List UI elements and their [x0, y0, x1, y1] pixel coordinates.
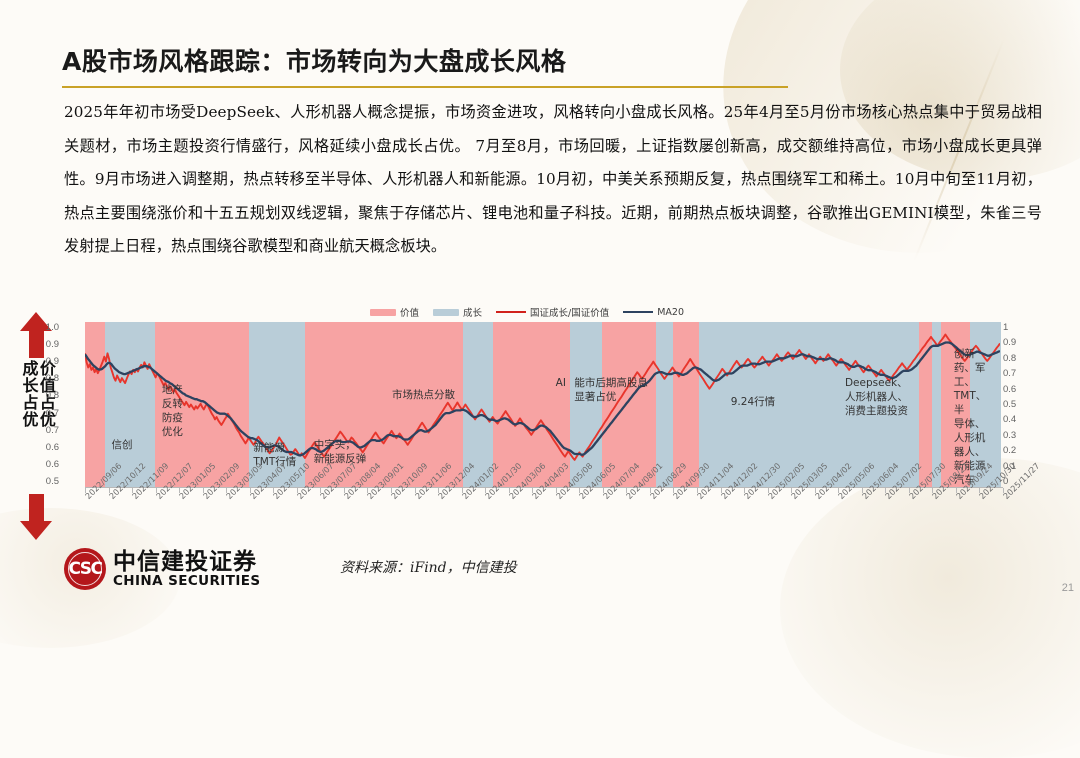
- slide-footer: CSC 中信建投证券 CHINA SECURITIES 资料来源：iFind，中…: [60, 544, 1070, 600]
- chart-annotation-8: Deepseek、 人形机器人、 消费主题投资: [845, 376, 908, 418]
- logo-mark-icon: CSC: [64, 548, 106, 590]
- y-left-tick-9: 0.5: [46, 476, 59, 487]
- value-arrow-down-icon: [20, 494, 52, 540]
- y-left-tick-7: 0.6: [46, 442, 59, 453]
- y-axis-left-ticks: 1.00.90.90.80.80.70.70.60.60.5: [35, 322, 59, 487]
- y-right-tick-1: 0.9: [1003, 337, 1016, 348]
- y-right-tick-6: 0.4: [1003, 414, 1016, 425]
- y-left-tick-6: 0.7: [46, 425, 59, 436]
- y-left-tick-5: 0.7: [46, 408, 59, 419]
- y-left-tick-8: 0.6: [46, 459, 59, 470]
- legend-label-3: MA20: [657, 307, 684, 318]
- chart-annotation-7: 9.24行情: [731, 395, 775, 409]
- y-right-tick-5: 0.5: [1003, 399, 1016, 410]
- legend-item-2[interactable]: 国证成长/国证价值: [496, 305, 609, 319]
- legend-item-3[interactable]: MA20: [623, 307, 684, 318]
- y-right-tick-3: 0.7: [1003, 368, 1016, 379]
- logo-mark-text: CSC: [68, 559, 101, 579]
- chart-annotation-4: 市场热点分散: [392, 388, 455, 402]
- y-left-tick-1: 0.9: [46, 339, 59, 350]
- body-paragraph: 2025年年初市场受DeepSeek、人形机器人概念提振，市场资金进攻，风格转向…: [64, 96, 1042, 264]
- style-tracking-chart: 价值成长国证成长/国证价值MA20 1.00.90.90.80.80.70.70…: [60, 300, 1070, 550]
- chart-annotation-5: AI: [556, 376, 566, 390]
- legend-swatch-2: [496, 311, 526, 314]
- y-left-tick-0: 1.0: [46, 322, 59, 333]
- legend-label-2: 国证成长/国证价值: [530, 305, 609, 319]
- legend-swatch-1: [433, 309, 459, 316]
- chart-annotation-0: 信创: [112, 438, 133, 452]
- y-right-tick-0: 1: [1003, 322, 1008, 333]
- legend-item-1[interactable]: 成长: [433, 305, 482, 319]
- page-number: 21: [1062, 582, 1074, 594]
- page-title-text: A股市场风格跟踪：市场转向为大盘成长风格: [62, 42, 1040, 78]
- legend-label-1: 成长: [463, 305, 482, 319]
- page-title: A股市场风格跟踪：市场转向为大盘成长风格: [62, 42, 1040, 82]
- x-axis-labels: 2022/09/062022/10/122022/11/092022/12/07…: [85, 494, 1045, 548]
- logo-name-cn: 中信建投证券: [113, 550, 260, 574]
- chart-legend: 价值成长国证成长/国证价值MA20: [370, 304, 770, 320]
- y-right-tick-2: 0.8: [1003, 353, 1016, 364]
- company-logo: CSC 中信建投证券 CHINA SECURITIES: [64, 548, 260, 590]
- logo-name-en: CHINA SECURITIES: [113, 574, 260, 589]
- legend-swatch-0: [370, 309, 396, 316]
- y-right-tick-4: 0.6: [1003, 384, 1016, 395]
- title-underline: [62, 86, 788, 88]
- legend-item-0[interactable]: 价值: [370, 305, 419, 319]
- legend-swatch-3: [623, 311, 653, 314]
- y-left-tick-2: 0.9: [46, 356, 59, 367]
- chart-annotation-6: 能市后期高股息 显著占优: [574, 376, 648, 404]
- chart-annotation-3: 中字头， 新能源反弹: [314, 438, 367, 466]
- chart-annotation-1: 地产 反转 防疫 优化: [162, 383, 183, 439]
- y-left-tick-4: 0.8: [46, 390, 59, 401]
- y-right-tick-7: 0.3: [1003, 430, 1016, 441]
- y-left-tick-3: 0.8: [46, 373, 59, 384]
- source-note: 资料来源：iFind，中信建投: [340, 557, 517, 577]
- y-right-tick-8: 0.2: [1003, 445, 1016, 456]
- legend-label-0: 价值: [400, 305, 419, 319]
